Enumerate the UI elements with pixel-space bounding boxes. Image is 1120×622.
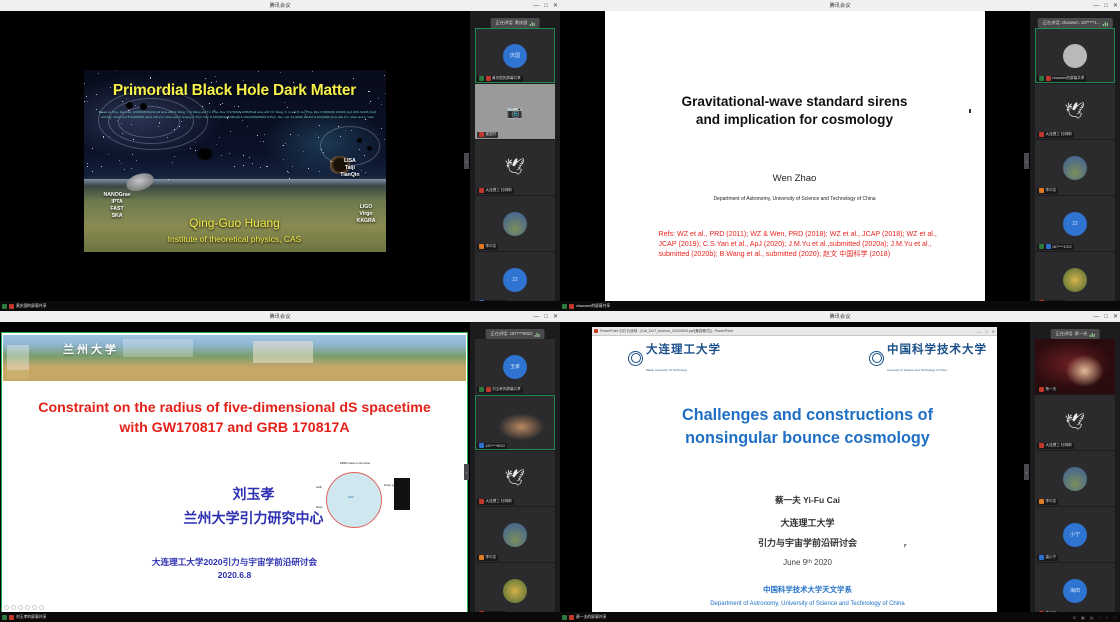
speaking-indicator: 正在讲话: 黄庆国 [491, 18, 540, 28]
participant-tile[interactable]: 187****8022 [475, 395, 555, 450]
window-title: 腾讯会议 [830, 2, 851, 9]
participant-tile[interactable]: 庆国黄庆国的屏幕共享 [475, 28, 555, 83]
reading-view-icon[interactable]: ▣ [1081, 615, 1085, 620]
mic-status-icon [1039, 443, 1044, 448]
powerpoint-taskbar-controls[interactable]: ⊞ ▣ ▤ − + ⛶ [1073, 615, 1120, 620]
minimize-icon[interactable]: — [1093, 314, 1099, 320]
shared-screen-stage: Gravitational-wave standard sirens and i… [560, 11, 1029, 311]
panel-ds-spacetime: 腾讯会议 — □ ✕ 兰州大学 Constraint [0, 311, 560, 622]
participant-label: 李中志 [477, 244, 498, 250]
window-title: 腾讯会议 [270, 2, 291, 9]
avatar-initials: 小宁 [1063, 523, 1087, 547]
share-owner-label: 蔡一夫的屏幕共享 [576, 615, 606, 620]
close-icon[interactable]: ✕ [1113, 314, 1118, 320]
mouse-cursor [969, 109, 971, 113]
participant-tile[interactable]: 📷被居开 [475, 84, 555, 139]
participant-label: zhaowen的屏幕共享 [1037, 76, 1086, 82]
panel-primordial-black-hole: 腾讯会议 — □ ✕ [0, 0, 560, 311]
participant-name: 大连理工 杜明明 [486, 188, 512, 193]
participant-tile[interactable]: 22187****1022 [1035, 196, 1115, 251]
participant-label: 大连理工 杜明明 [1037, 443, 1074, 449]
figure-binary-box [394, 478, 410, 510]
participant-tile[interactable]: Junjie Zhao [1035, 252, 1115, 307]
minimize-icon[interactable]: — [1093, 3, 1099, 9]
participant-tile[interactable]: Junjie Zhao [475, 563, 555, 618]
speaking-label: 正在讲话: 187****8022 [491, 331, 533, 337]
ustc-seal-icon [869, 351, 884, 366]
powerpoint-app-icon [594, 329, 598, 333]
mic-status-icon [1039, 387, 1044, 392]
speaking-label: 正在讲话: 蔡一夫 [1056, 331, 1088, 337]
slide-title-line2: with GW170817 and GRB 170817A [5, 418, 464, 438]
meeting-body: Gravitational-wave standard sirens and i… [560, 11, 1120, 311]
participant-tile[interactable]: 🕊大连理工 杜明明 [475, 451, 555, 506]
participant-sidebar: 正在讲话: zhaowen, 187****1... zhaowen的屏幕共享🕊… [1029, 11, 1120, 311]
powerpoint-window-controls[interactable]: — □ ✕ [977, 329, 995, 334]
close-icon[interactable]: ✕ [1113, 3, 1118, 9]
avatar-placeholder [1063, 44, 1087, 68]
close-icon[interactable]: ✕ [553, 314, 558, 320]
participant-name: 李中志 [1046, 499, 1057, 504]
window-titlebar: 腾讯会议 — □ ✕ [560, 0, 1120, 11]
slide-title-line2: nonsingular bounce cosmology [632, 427, 983, 450]
participant-tile[interactable]: 李中志 [1035, 140, 1115, 195]
mic-status-icon [486, 387, 491, 392]
participant-label: 黄庆国的屏幕共享 [477, 76, 523, 82]
galaxy-blur [194, 148, 216, 160]
slide-affiliation: Department of Astronomy, University of S… [605, 196, 985, 202]
participant-tile[interactable]: 🕊大连理工 杜明明 [475, 140, 555, 195]
participant-label: 187****8022 [477, 443, 507, 449]
mic-status-icon [479, 244, 484, 249]
participant-tile[interactable]: 小宁高小宁 [1035, 507, 1115, 562]
screen-share-icon [1039, 244, 1044, 249]
shared-screen-stage: Primordial Black Hole Dark Matter Based … [0, 11, 469, 311]
window-controls[interactable]: — □ ✕ [1093, 0, 1118, 11]
zoom-in-icon[interactable]: + [1106, 615, 1108, 620]
shared-screen-stage: 兰州大学 Constraint on the radius of five-di… [0, 322, 469, 622]
participant-label: 李中志 [477, 555, 498, 561]
slide-title: Primordial Black Hole Dark Matter [84, 82, 386, 100]
maximize-icon[interactable]: □ [1104, 314, 1108, 320]
participant-tile[interactable]: 🕊大连理工 杜明明 [1035, 84, 1115, 139]
avatar-initials: 22 [503, 268, 527, 292]
speaking-indicator: 正在讲话: 蔡一夫 [1051, 329, 1100, 339]
logo-dlut-en: Dalian University Of Technology [646, 369, 687, 372]
audio-wave-icon [1102, 21, 1107, 26]
participant-label: 李中志 [1037, 499, 1058, 505]
participant-label: 蔡一夫 [1037, 387, 1058, 393]
campus-banner-image: 兰州大学 [3, 335, 466, 381]
shared-screen-stage: PowerPoint 幻灯片放映 - [Cai_DUT_bounce_20200… [560, 322, 1029, 622]
participant-tiles: 蔡一夫🕊大连理工 杜明明李中志小宁高小宁海田李海田 [1035, 339, 1115, 618]
video-feed-face [1035, 339, 1115, 394]
logo-ustc-cn: 中国科学技术大学 [887, 344, 987, 356]
participant-sidebar: 正在讲话: 蔡一夫 蔡一夫🕊大连理工 杜明明李中志小宁高小宁海田李海田 [1029, 322, 1120, 622]
avatar-photo [503, 523, 527, 547]
mic-status-icon [479, 443, 484, 448]
participant-tile[interactable]: 蔡一夫 [1035, 339, 1115, 394]
participant-tiles: zhaowen的屏幕共享🕊大连理工 杜明明李中志22187****1022Jun… [1035, 28, 1115, 307]
mic-status-icon [1039, 555, 1044, 560]
screen-share-icon [479, 76, 484, 81]
maximize-icon[interactable]: □ [1104, 3, 1108, 9]
window-title: 腾讯会议 [830, 313, 851, 320]
avatar-initials: 海田 [1063, 579, 1087, 603]
conference-name: 大连理工大学2020引力与宇宙学前沿研讨会 [1, 556, 468, 570]
slide-conference: 引力与宇宙学前沿研讨会 [622, 536, 993, 549]
sidebar-collapse-handle[interactable]: › [1024, 464, 1029, 480]
dove-avatar-icon: 🕊 [1065, 415, 1085, 431]
participant-tile[interactable]: 🕊大连理工 杜明明 [1035, 395, 1115, 450]
share-owner-label: zhaowen的屏幕共享 [576, 304, 610, 309]
dove-avatar-icon: 🕊 [1065, 104, 1085, 120]
slide-title-line1: Gravitational-wave standard sirens [605, 93, 985, 111]
logo-ustc: 中国科学技术大学 University of Science and Techn… [869, 340, 987, 376]
sidebar-collapse-handle[interactable]: › [1024, 153, 1029, 169]
panel-bounce-cosmology: 腾讯会议 — □ ✕ PowerPoint 幻灯片放映 - [Cai_DUT_b… [560, 311, 1120, 622]
window-titlebar: 腾讯会议 — □ ✕ [0, 311, 560, 322]
mouse-cursor [904, 544, 907, 548]
screen-share-bar: 蔡一夫的屏幕共享 ⊞ ▣ ▤ − + ⛶ [560, 612, 1120, 622]
participant-name: 被居开 [486, 132, 497, 137]
close-icon[interactable]: ✕ [553, 3, 558, 9]
speaking-label: 正在讲话: zhaowen, 187****1... [1043, 20, 1101, 26]
audio-wave-icon [529, 21, 534, 26]
slide-conference: 大连理工大学2020引力与宇宙学前沿研讨会 2020.6.8 [1, 556, 468, 584]
participant-tile[interactable]: 李中志 [1035, 451, 1115, 506]
slide-ds-spacetime: 兰州大学 Constraint on the radius of five-di… [1, 332, 468, 613]
mic-muted-icon [9, 304, 14, 309]
participant-label: 高小宁 [1037, 555, 1058, 561]
normal-view-icon[interactable]: ▤ [1090, 615, 1094, 620]
slide-presenter: 蔡一夫 Yi-Fu Cai [622, 494, 993, 506]
participant-name: 187****1022 [1052, 245, 1072, 249]
logo-ustc-en: University of Science and Technology of … [887, 369, 947, 372]
slide-title-line1: Challenges and constructions of [632, 404, 983, 427]
participant-label: 大连理工 杜明明 [477, 499, 514, 505]
slide-title-line2: and implication for cosmology [605, 111, 985, 129]
mic-status-icon [479, 188, 484, 193]
slide-author: Wen Zhao [605, 173, 985, 184]
maximize-icon[interactable]: □ [544, 3, 548, 9]
participant-sidebar: 正在讲话: 187****8022 玉孝刘玉孝的屏幕共享187****8022🕊… [469, 322, 560, 622]
powerpoint-window: PowerPoint 幻灯片放映 - [Cai_DUT_bounce_20200… [592, 327, 997, 617]
avatar-initials: 庆国 [503, 44, 527, 68]
mic-status-icon [1046, 244, 1051, 249]
mic-status-icon [479, 499, 484, 504]
mic-muted-icon [9, 615, 14, 620]
brane-circle [326, 472, 382, 528]
meeting-body: PowerPoint 幻灯片放映 - [Cai_DUT_bounce_20200… [560, 322, 1120, 622]
participant-tile[interactable]: 玉孝刘玉孝的屏幕共享 [475, 339, 555, 394]
brane-diagram: EMWs travel on the brane earth binary sy… [316, 460, 412, 538]
fit-slide-icon[interactable]: ⛶ [1113, 615, 1116, 620]
screen-share-bar: 刘玉孝的屏幕共享 [0, 612, 560, 622]
slide-department-cn: 中国科学技术大学天文学系 [622, 584, 993, 595]
figure-label-brane: brane [316, 506, 323, 509]
conference-date: 2020.6.8 [1, 569, 468, 583]
black-hole-dot [367, 146, 372, 151]
participant-name: 李中志 [486, 555, 497, 560]
slideshow-icon[interactable]: ⊞ [1073, 615, 1076, 620]
slide-primordial-black-hole: Primordial Black Hole Dark Matter Based … [84, 70, 386, 252]
dove-avatar-icon: 🕊 [505, 471, 525, 487]
slide-references: Refs: WZ et al., PRD (2011); WZ & Wen, P… [659, 229, 951, 259]
participant-name: zhaowen的屏幕共享 [1052, 76, 1084, 81]
minimize-icon[interactable]: — [977, 329, 981, 334]
participant-label: 187****1022 [1037, 244, 1074, 250]
slide-host-university: 大连理工大学 [622, 516, 993, 529]
figure-label-earth: earth [316, 486, 322, 489]
speaking-label: 正在讲话: 黄庆国 [496, 20, 528, 26]
minimize-icon[interactable]: — [533, 3, 539, 9]
participant-name: 大连理工 杜明明 [1046, 443, 1072, 448]
mic-status-icon [1039, 499, 1044, 504]
share-owner-label: 黄庆国的屏幕共享 [16, 304, 46, 309]
participant-tile[interactable]: zhaowen的屏幕共享 [1035, 28, 1115, 83]
mic-status-icon [486, 76, 491, 81]
window-controls[interactable]: — □ ✕ [1093, 311, 1118, 322]
window-titlebar: 腾讯会议 — □ ✕ [0, 0, 560, 11]
participant-tiles: 玉孝刘玉孝的屏幕共享187****8022🕊大连理工 杜明明李中志Junjie … [475, 339, 555, 618]
participant-name: 蔡一夫 [1046, 387, 1057, 392]
slide-bounce-cosmology: 大连理工大学 Dalian University Of Technology 中… [622, 336, 993, 617]
screen-share-bar: zhaowen的屏幕共享 [560, 301, 1120, 311]
mic-status-icon [479, 555, 484, 560]
close-icon[interactable]: ✕ [992, 329, 995, 334]
slide-author: Qing-Guo Huang [84, 216, 386, 230]
mic-muted-icon [569, 304, 574, 309]
participant-name: 李中志 [1046, 188, 1057, 193]
mic-status-icon [1039, 188, 1044, 193]
avatar-photo [1063, 268, 1087, 292]
meeting-body: 兰州大学 Constraint on the radius of five-di… [0, 322, 560, 622]
slide-title: Challenges and constructions of nonsingu… [632, 404, 983, 451]
speaking-indicator: 正在讲话: 187****8022 [486, 329, 545, 339]
avatar-photo [503, 579, 527, 603]
screen-share-icon [562, 615, 567, 620]
participant-name: 高小宁 [1046, 555, 1057, 560]
sidebar-collapse-handle[interactable]: › [464, 464, 469, 480]
share-owner-label: 刘玉孝的屏幕共享 [16, 615, 46, 620]
screen-share-icon [2, 304, 7, 309]
audio-wave-icon [1089, 332, 1094, 337]
participant-name: 李中志 [486, 244, 497, 249]
banner-university-name: 兰州大学 [63, 341, 119, 357]
meeting-body: Primordial Black Hole Dark Matter Based … [0, 11, 560, 311]
slide-title-line1: Constraint on the radius of five-dimensi… [5, 398, 464, 418]
avatar-initials: 22 [1063, 212, 1087, 236]
participant-label: 李中志 [1037, 188, 1058, 194]
slide-references: Based on Phys. Rev. Lett. 120(2018)19110… [98, 110, 378, 119]
zoom-out-icon[interactable]: − [1099, 615, 1101, 620]
avatar-photo [1063, 467, 1087, 491]
window-controls[interactable]: — □ ✕ [533, 311, 558, 322]
participant-tile[interactable]: 李中志 [475, 196, 555, 251]
participant-label: 大连理工 杜明明 [477, 188, 514, 194]
audio-wave-icon [534, 332, 539, 337]
mic-status-icon [1039, 132, 1044, 137]
participant-name: 刘玉孝的屏幕共享 [492, 387, 521, 392]
camera-off-icon: 📷 [507, 104, 523, 120]
participant-tile[interactable]: 22187****1022 [475, 252, 555, 307]
presenter-controls[interactable] [4, 605, 44, 610]
figure-label-gws: GWs [348, 496, 354, 499]
video-feed-face [475, 395, 555, 450]
screen-share-icon [479, 387, 484, 392]
participant-name: 黄庆国的屏幕共享 [492, 76, 521, 81]
avatar-photo [1063, 156, 1087, 180]
participant-tile[interactable]: 海田李海田 [1035, 563, 1115, 618]
mic-status-icon [1046, 76, 1051, 81]
maximize-icon[interactable]: □ [544, 314, 548, 320]
window-title: 腾讯会议 [270, 313, 291, 320]
participant-name: 大连理工 杜明明 [486, 499, 512, 504]
figure-label-emw: EMWs travel on the brane [340, 462, 370, 465]
participant-label: 刘玉孝的屏幕共享 [477, 387, 523, 393]
mic-status-icon [479, 132, 484, 137]
speaking-indicator: 正在讲话: zhaowen, 187****1... [1038, 18, 1113, 28]
maximize-icon[interactable]: □ [985, 329, 987, 334]
dove-avatar-icon: 🕊 [505, 160, 525, 176]
participant-label: 被居开 [477, 132, 498, 138]
window-controls[interactable]: — □ ✕ [533, 0, 558, 11]
participant-label: 大连理工 杜明明 [1037, 132, 1074, 138]
powerpoint-titlebar: PowerPoint 幻灯片放映 - [Cai_DUT_bounce_20200… [592, 327, 997, 336]
slide-standard-sirens: Gravitational-wave standard sirens and i… [605, 11, 985, 311]
participant-name: 187****8022 [486, 444, 506, 448]
slide-logos: 大连理工大学 Dalian University Of Technology 中… [628, 340, 987, 362]
screen-share-icon [2, 615, 7, 620]
black-hole-dot [140, 103, 147, 110]
slide-affiliation: Institute of theoretical physics, CAS [84, 234, 386, 244]
slide-department-en: Department of Astronomy, University of S… [622, 601, 993, 607]
panel-standard-sirens: 腾讯会议 — □ ✕ Gravitational-wave standard s… [560, 0, 1120, 311]
black-hole-dot [357, 138, 362, 143]
screen-share-bar: 黄庆国的屏幕共享 [0, 301, 560, 311]
mic-muted-icon [569, 615, 574, 620]
meeting-screenshot-grid: 腾讯会议 — □ ✕ [0, 0, 1120, 622]
minimize-icon[interactable]: — [533, 314, 539, 320]
screen-share-icon [562, 304, 567, 309]
logo-dlut-cn: 大连理工大学 [646, 344, 721, 356]
black-hole-dot [126, 102, 133, 109]
logo-dlut: 大连理工大学 Dalian University Of Technology [628, 340, 721, 376]
participant-name: 大连理工 杜明明 [1046, 132, 1072, 137]
participant-tile[interactable]: 李中志 [475, 507, 555, 562]
powerpoint-title: PowerPoint 幻灯片放映 - [Cai_DUT_bounce_20200… [600, 329, 733, 334]
window-titlebar: 腾讯会议 — □ ✕ [560, 311, 1120, 322]
slide-date: June 9ᵗʰ 2020 [622, 558, 993, 567]
sidebar-collapse-handle[interactable]: › [464, 153, 469, 169]
participant-sidebar: 正在讲话: 黄庆国 庆国黄庆国的屏幕共享📷被居开🕊大连理工 杜明明李中志2218… [469, 11, 560, 311]
avatar-photo [503, 212, 527, 236]
slide-title: Gravitational-wave standard sirens and i… [605, 93, 985, 129]
avatar-initials: 玉孝 [503, 355, 527, 379]
participant-tiles: 庆国黄庆国的屏幕共享📷被居开🕊大连理工 杜明明李中志22187****1022 [475, 28, 555, 307]
slide-title: Constraint on the radius of five-dimensi… [5, 398, 464, 438]
detector-labels-space: LISA Taiji TianQin [340, 158, 359, 179]
dlut-seal-icon [628, 351, 643, 366]
screen-share-icon [1039, 76, 1044, 81]
